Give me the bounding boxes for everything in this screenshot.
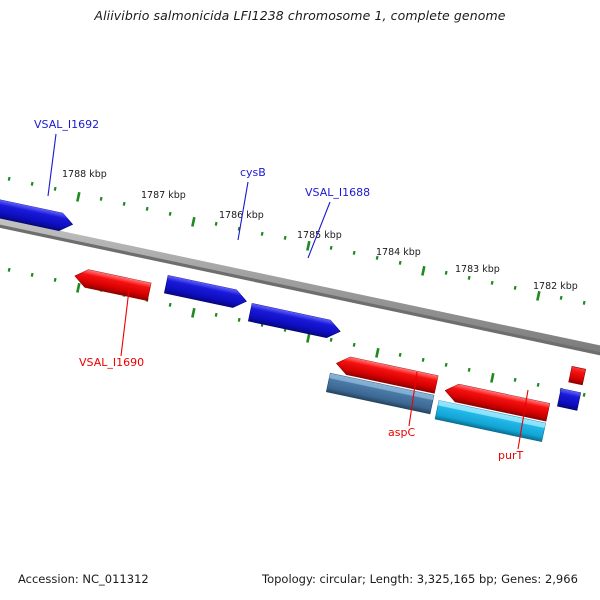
ruler-label: 1783 kbp bbox=[455, 264, 500, 275]
ruler-label: 1785 kbp bbox=[297, 230, 342, 241]
genome-stats-text: Topology: circular; Length: 3,325,165 bp… bbox=[262, 572, 578, 586]
gene-glyph-partial-right[interactable] bbox=[557, 389, 580, 411]
gene-glyph-vsal-i1688[interactable] bbox=[248, 303, 342, 340]
ruler-label: 1782 kbp bbox=[533, 281, 578, 292]
leader-line-vsal-i1692 bbox=[48, 134, 56, 196]
accession-text: Accession: NC_011312 bbox=[18, 572, 149, 586]
genome-map-viewer: Aliivibrio salmonicida LFI1238 chromosom… bbox=[0, 0, 600, 600]
gene-label-vsal-i1688[interactable]: VSAL_I1688 bbox=[305, 186, 370, 199]
ruler-label: 1788 kbp bbox=[62, 169, 107, 180]
gene-glyph-vsal-i1690[interactable] bbox=[73, 267, 151, 300]
ruler-label: 1784 kbp bbox=[376, 247, 421, 258]
gene-glyph-partial-right-red[interactable] bbox=[569, 366, 586, 385]
gene-label-cysb[interactable]: cysB bbox=[240, 166, 266, 179]
genome-map-canvas[interactable]: 1788 kbp 1787 kbp 1786 kbp 1785 kbp 1784… bbox=[0, 0, 600, 600]
gene-label-purt[interactable]: purT bbox=[498, 449, 523, 462]
gene-label-vsal-i1692[interactable]: VSAL_I1692 bbox=[34, 118, 99, 131]
leader-line-vsal-i1690 bbox=[121, 290, 129, 356]
gene-label-vsal-i1690[interactable]: VSAL_I1690 bbox=[79, 356, 144, 369]
ruler-label: 1787 kbp bbox=[141, 190, 186, 201]
gene-glyph-cysb[interactable] bbox=[164, 275, 248, 310]
gene-label-aspc[interactable]: aspC bbox=[388, 426, 415, 439]
